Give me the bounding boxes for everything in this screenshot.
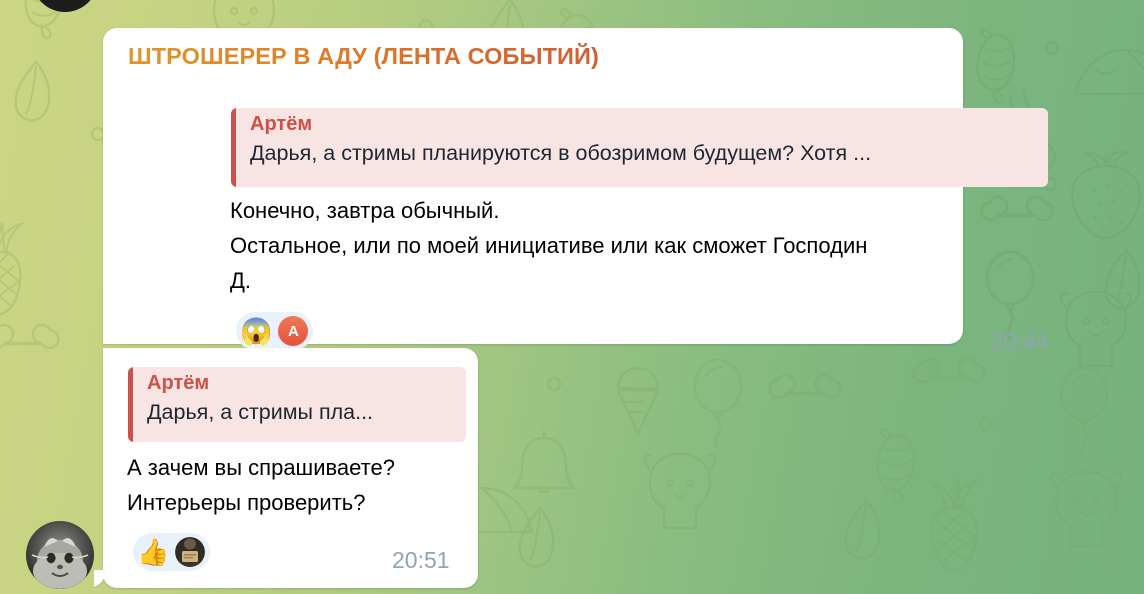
chat-view: ШТРОШЕРЕР В АДУ (ЛЕНТА СОБЫТИЙ) Артём Да…	[0, 0, 1144, 594]
reply-preview-text: Дарья, а стримы пла...	[147, 400, 373, 425]
message-text: А зачем вы спрашиваете? Интерьеры провер…	[127, 450, 467, 520]
message-bubble[interactable]: ШТРОШЕРЕР В АДУ (ЛЕНТА СОБЫТИЙ) Артём Да…	[103, 28, 963, 344]
message-text-line: Интерьеры проверить?	[127, 485, 467, 520]
message-text-line: Конечно, завтра обычный.	[230, 193, 1040, 228]
bubble-tail	[94, 570, 106, 588]
reaction-pill[interactable]: 👍	[133, 533, 210, 571]
message-text-line: А зачем вы спрашиваете?	[127, 450, 467, 485]
avatar[interactable]	[32, 0, 98, 12]
avatar[interactable]	[26, 521, 94, 589]
reply-quote[interactable]: Артём Дарья, а стримы планируются в обоз…	[231, 108, 1048, 187]
message-text: Конечно, завтра обычный. Остальное, или …	[230, 193, 1040, 298]
message-text-line: Д.	[230, 263, 1040, 298]
reply-author: Артём	[250, 113, 312, 136]
reply-preview-text: Дарья, а стримы планируются в обозримом …	[250, 141, 871, 166]
reactor-avatar: A	[278, 316, 308, 346]
face-screaming-in-fear-icon: 😱	[240, 318, 272, 344]
reactor-avatar	[175, 537, 205, 567]
reply-quote[interactable]: Артём Дарья, а стримы пла...	[128, 367, 466, 442]
message-timestamp: 20:51	[392, 547, 450, 574]
message-timestamp: 20:44	[991, 328, 1049, 355]
thumbs-up-icon: 👍	[137, 539, 169, 565]
channel-forward-title[interactable]: ШТРОШЕРЕР В АДУ (ЛЕНТА СОБЫТИЙ)	[128, 43, 599, 70]
reply-author: Артём	[147, 372, 209, 395]
reaction-pill[interactable]: 😱 A	[236, 312, 313, 350]
message-bubble[interactable]: Артём Дарья, а стримы пла... А зачем вы …	[103, 348, 478, 588]
message-text-line: Остальное, или по моей инициативе или ка…	[230, 228, 1040, 263]
